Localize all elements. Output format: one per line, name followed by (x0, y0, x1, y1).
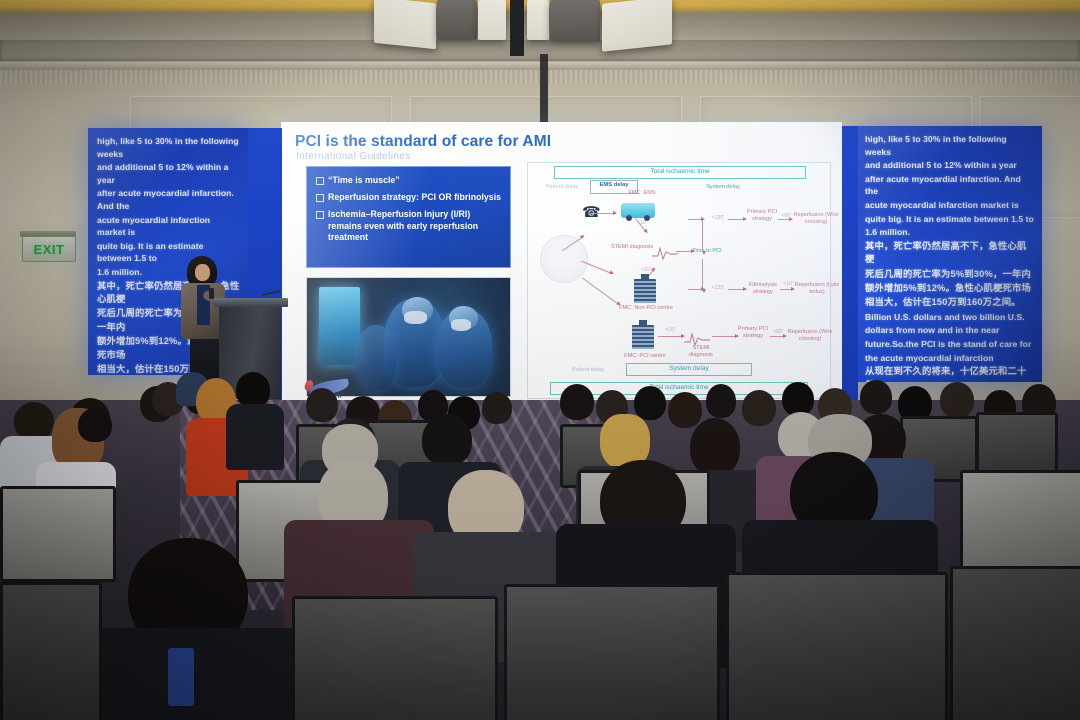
non-pci-centre-icon (634, 279, 656, 303)
node-pci-centre: FMC: PCI centre (610, 353, 680, 360)
arrow (582, 278, 620, 306)
conference-photo: EXIT high, like 5 to 30% in the followin… (0, 0, 1080, 720)
chair (292, 596, 498, 720)
chair (960, 470, 1080, 576)
slide-bullet-box: “Time is muscle” Reperfusion strategy: P… (306, 166, 511, 268)
audience-head (560, 384, 594, 420)
ceiling-light-box (478, 0, 506, 40)
square-bullet-icon (316, 211, 324, 219)
node-reperfusion-lytic: Reperfusion (Lytic bolus) (792, 282, 842, 296)
caption-line: acute myocardial infarction market is (865, 199, 1034, 212)
right-caption-text: high, like 5 to 30% in the following wee… (856, 126, 1042, 382)
audience-head (236, 372, 270, 408)
patient-node (540, 235, 588, 283)
caption-line: dollars from now and in the near (865, 324, 1034, 337)
audience-head (306, 388, 338, 422)
slide-title: PCI is the standard of care for AMI (295, 133, 551, 151)
audience-head (634, 386, 666, 420)
lanyard (168, 648, 194, 706)
pci-centre-icon (632, 325, 654, 349)
arrow (658, 336, 684, 337)
arrow (688, 219, 704, 220)
audience-head (706, 384, 736, 418)
caption-line: future.So.the PCI is the stand of care f… (865, 338, 1034, 351)
chair (726, 572, 948, 720)
list-item: Reperfusion strategy: PCI OR fibrinolysi… (316, 192, 502, 203)
caption-line-cn: 死后几周的死亡率为5%到30%，一年内 (865, 268, 1034, 281)
caption-line: high, like 5 to 30% in the following wee… (865, 133, 1034, 158)
branch-line (702, 259, 703, 289)
time-label: <10' (660, 327, 680, 333)
node-non-pci-centre: FMC: Non-PCI centre (606, 305, 686, 312)
node-reperfusion-wire-1: Reperfusion (Wire crossing) (790, 212, 842, 226)
audience-head (422, 414, 472, 466)
ceiling-light-box (527, 0, 549, 40)
ceiling-seam (540, 54, 548, 122)
surgical-mask (451, 319, 471, 331)
band-patient-delay-top: Patient delay (534, 184, 590, 191)
caption-line: quite big. It is an estimate between 1.5… (865, 213, 1034, 226)
caption-line: the acute myocardial infarction (865, 352, 1034, 365)
chair (950, 566, 1080, 720)
branch-line (702, 219, 703, 251)
bullet-text: Ischemia–Reperfusion Injury (I/RI) remai… (328, 209, 478, 241)
node-reperfusion-wire-2: Reperfusion (Wire crossing) (784, 329, 836, 343)
caption-line: 1.6 million. (865, 226, 1034, 239)
node-primary-pci-1: Primary PCI strategy (744, 209, 780, 223)
ambulance-icon (621, 203, 655, 218)
xray-monitor (319, 287, 360, 365)
ceiling-light-box (602, 0, 672, 52)
node-fibrinolysis: Fibrinolysis strategy (742, 282, 784, 296)
audience-head (860, 380, 892, 414)
chair (0, 582, 102, 720)
list-item: Ischemia–Reperfusion Injury (I/RI) remai… (316, 209, 502, 243)
audience-head (668, 392, 702, 428)
slide-subtitle: International Guidelines (296, 151, 411, 162)
list-item: “Time is muscle” (316, 175, 502, 186)
caption-line: after acute myocardial infarction. And t… (97, 187, 240, 212)
chair (504, 584, 720, 720)
caption-line-cn: 额外增加5%到12%。急性心肌梗死市场 (865, 282, 1034, 295)
square-bullet-icon (316, 194, 324, 202)
ischaemic-time-diagram: Total ischaemic time Patient delay EMS d… (527, 162, 831, 399)
audience-head (742, 390, 776, 426)
caption-line: and additional 5 to 12% within a year (97, 161, 240, 186)
band-system-delay-bottom: System delay (626, 363, 752, 376)
audience-head (78, 408, 112, 442)
caption-line-cn: 相当大，估计在150万到160万之间。 (865, 296, 1034, 309)
node-primary-pci-2: Primary PCI strategy (736, 326, 770, 340)
main-presentation-screen: PCI is the standard of care for AMI Inte… (281, 122, 842, 410)
audience-head (940, 382, 974, 418)
ceiling-gap (510, 0, 524, 56)
caption-line-cn: 其中，死亡率仍然居高不下，急性心肌梗 (865, 240, 1034, 267)
diagram-title-top: Total ischaemic time (554, 166, 806, 179)
band-patient-delay-bottom: Patient delay (558, 367, 618, 374)
caption-line: 1.6 million. (97, 266, 240, 279)
caption-line: and additional 5 to 12% within a year (865, 159, 1034, 172)
time-label: <120' (706, 215, 730, 221)
ceiling-beam (550, 0, 600, 42)
ecg-waveform-icon (652, 243, 678, 261)
surgical-mask (404, 311, 426, 324)
exit-sign: EXIT (22, 236, 76, 262)
ceiling-light-box (374, 0, 436, 49)
caption-line: after acute myocardial infarction. And t… (865, 173, 1034, 198)
podium-top-surface (214, 298, 288, 307)
caption-line: Billion U.S. dollars and two billion U.S… (865, 311, 1034, 324)
speaker-face (195, 264, 210, 281)
square-bullet-icon (316, 177, 324, 185)
node-stemi-1: STEMI diagnosis (610, 244, 654, 251)
node-time-to-pci: Time to PCI (690, 248, 724, 255)
caption-line: high, like 5 to 30% in the following wee… (97, 135, 240, 160)
caption-line: acute myocardial infarction market is (97, 214, 240, 239)
caption-line-cn: 从现在到不久的将来，十亿美元和二十亿 (865, 365, 1034, 382)
audience-head (782, 382, 814, 416)
band-system-delay-top: System delay (678, 184, 768, 191)
audience-head (690, 418, 740, 476)
ceiling-beam (437, 0, 477, 40)
audience-head (482, 392, 512, 424)
node-stemi-2: STEMI diagnosis (680, 345, 722, 359)
audience-torso (226, 404, 284, 470)
node-ems-label: FMC: EMS (614, 190, 670, 197)
right-caption-screen: high, like 5 to 30% in the following wee… (856, 126, 1042, 382)
audience-head (14, 402, 54, 440)
slide-bullet-list: “Time is muscle” Reperfusion strategy: P… (307, 167, 510, 243)
stage-blue-panel-right (842, 126, 858, 402)
arrow (712, 336, 738, 337)
exit-sign-label: EXIT (34, 242, 65, 257)
bullet-text: “Time is muscle” (328, 175, 400, 185)
caption-line: quite big. It is an estimate between 1.5… (97, 240, 240, 265)
bullet-text: Reperfusion strategy: PCI OR fibrinolysi… (328, 192, 501, 202)
chair (0, 486, 116, 582)
arrow (590, 213, 616, 214)
time-label: <120' (706, 285, 730, 291)
arrow (688, 289, 704, 290)
